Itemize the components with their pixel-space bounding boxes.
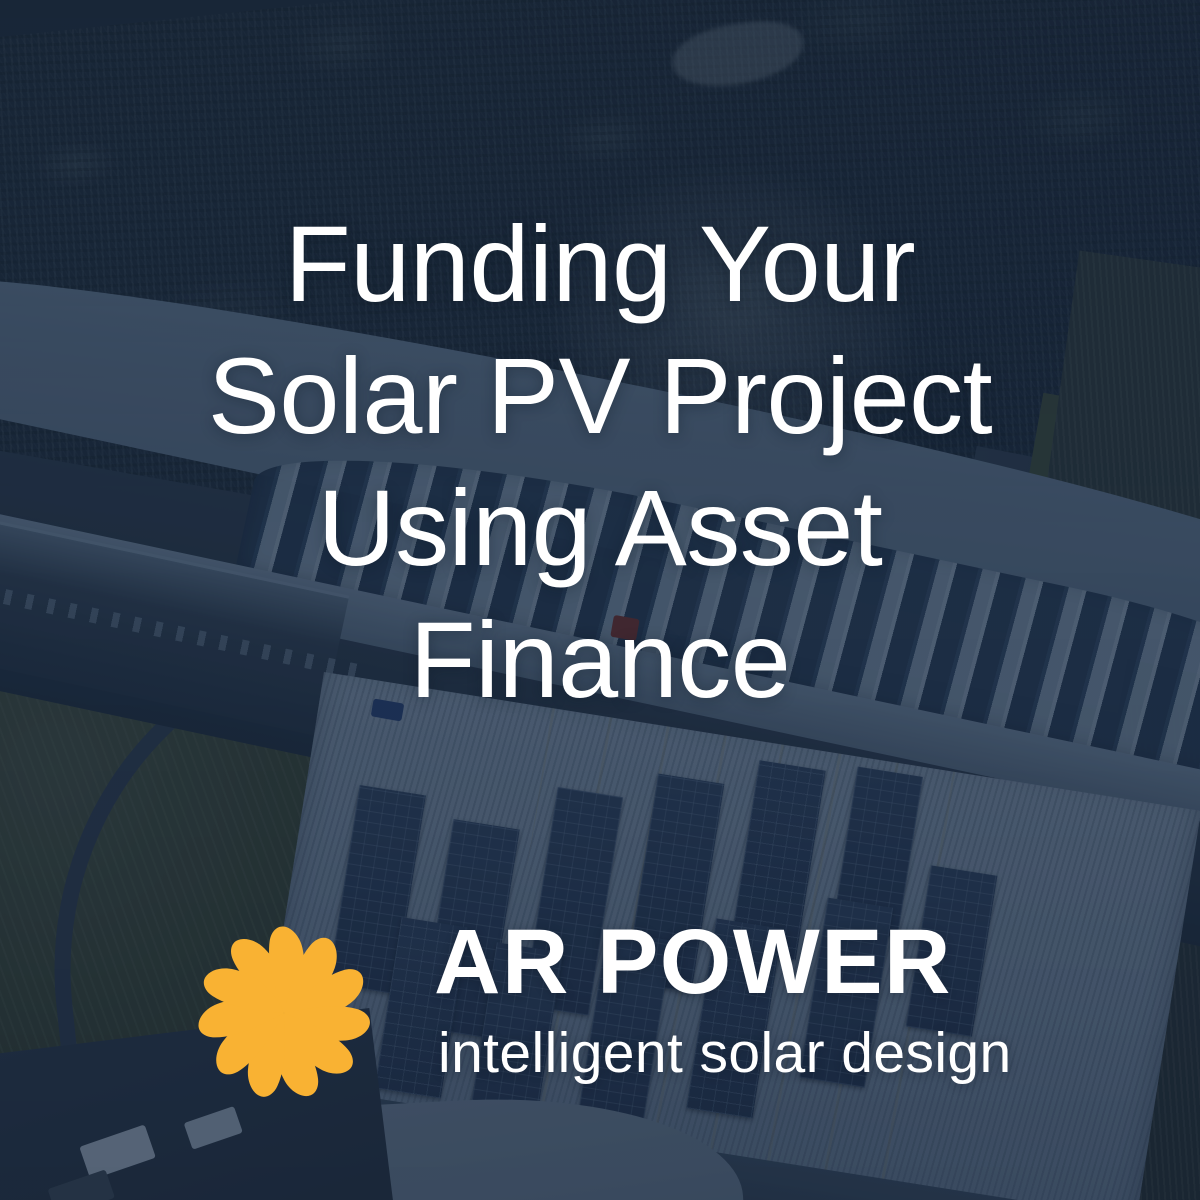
sunflower-swirl-icon	[186, 902, 382, 1124]
brand-logo: AR POWER intelligent solar design	[186, 900, 1026, 1126]
company-tagline: intelligent solar design	[438, 1022, 1012, 1084]
headline-line-3: Using Asset	[0, 462, 1200, 594]
headline-line-1: Funding Your	[0, 198, 1200, 330]
headline-line-2: Solar PV Project	[0, 330, 1200, 462]
headline: Funding Your Solar PV Project Using Asse…	[0, 198, 1200, 726]
headline-line-4: Finance	[0, 594, 1200, 726]
promo-card: Funding Your Solar PV Project Using Asse…	[0, 0, 1200, 1200]
company-name: AR POWER	[434, 914, 952, 1010]
